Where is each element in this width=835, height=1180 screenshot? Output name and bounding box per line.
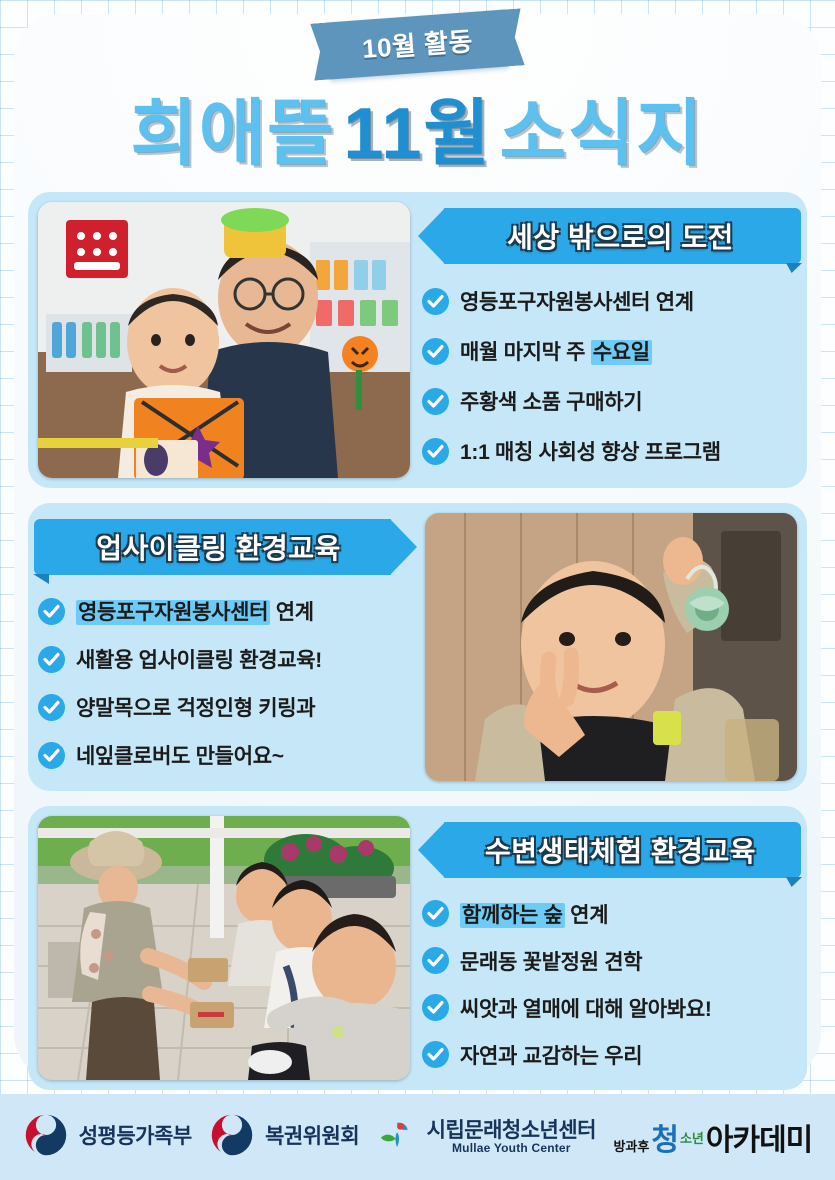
mullae-mark-icon [377,1115,417,1160]
check-circle-icon [38,646,65,673]
section-heading-banner: 수변생태체험 환경교육 [444,822,801,878]
logo-lottery-commission: 복권위원회 [209,1112,359,1163]
section-bullet-list: 함께하는 숲 연계 문래동 꽃밭정원 견학 씨앗과 열매에 대해 알아봐요! 자… [418,890,801,1078]
footer-logo-bar: 성평등가족부 복권위원회 [0,1094,835,1180]
logo-name-ko: 시립문래청소년센터 [427,1120,596,1142]
section-photo [425,513,797,781]
bullet-text-pre: 주황색 소품 구매하기 [460,391,642,414]
section-content: 업사이클링 환경교육 영등포구자원봉사센터 연계 새활용 업사이클링 환경교육!… [34,513,417,783]
section-content: 세상 밖으로의 도전 영등포구자원봉사센터 연계 매월 마지막 주 수요일 주황… [418,202,801,480]
ribbon-label: 10월 활동 [361,26,474,64]
poster-background: 10월 활동 희애뜰11월소식지 [0,0,835,1180]
title-part-3: 소식지 [500,74,705,179]
bullet-text-pre: 자연과 교감하는 우리 [460,1045,642,1068]
academy-prefix: 방과후 [613,1136,649,1155]
list-item: 영등포구자원봉사센터 연계 [38,596,411,626]
logo-name-en: Mullae Youth Center [427,1142,596,1155]
bullet-label: 문래동 꽃밭정원 견학 [460,946,642,976]
check-circle-icon [422,1041,449,1068]
list-item: 영등포구자원봉사센터 연계 [422,286,795,316]
check-circle-icon [422,994,449,1021]
bullet-label: 영등포구자원봉사센터 연계 [460,286,694,316]
list-item: 문래동 꽃밭정원 견학 [422,946,795,976]
bullet-text-pre: 양말목으로 걱정인형 키링과 [76,697,315,720]
bullet-text-pre: 영등포구자원봉사센터 연계 [460,291,694,314]
logo-mullae-youth-center: 시립문래청소년센터 Mullae Youth Center [377,1115,596,1160]
bullet-text-highlight: 수요일 [591,340,652,365]
list-item: 1:1 매칭 사회성 향상 프로그램 [422,436,795,466]
ribbon-container: 10월 활동 [0,16,835,73]
bullet-label: 새활용 업사이클링 환경교육! [76,644,322,674]
section-heading-label: 수변생태체험 환경교육 [485,830,756,870]
bullet-text-pre: 씨앗과 열매에 대해 알아봐요! [460,998,712,1021]
section-inner: 세상 밖으로의 도전 영등포구자원봉사센터 연계 매월 마지막 주 수요일 주황… [28,192,807,488]
title-part-2: 11월 [343,74,491,179]
list-item: 주황색 소품 구매하기 [422,386,795,416]
check-circle-icon [422,338,449,365]
section-bullet-list: 영등포구자원봉사센터 연계 매월 마지막 주 수요일 주황색 소품 구매하기 1… [418,276,801,476]
page-title: 희애뜰11월소식지 [0,74,835,179]
bullet-label: 자연과 교감하는 우리 [460,1040,642,1070]
section-heading-banner: 세상 밖으로의 도전 [444,208,801,264]
check-circle-icon [38,694,65,721]
check-circle-icon [38,598,65,625]
section-inner: 수변생태체험 환경교육 함께하는 숲 연계 문래동 꽃밭정원 견학 씨앗과 열매… [28,806,807,1090]
taegeuk-icon [23,1112,69,1163]
list-item: 네잎클로버도 만들어요~ [38,740,411,770]
check-circle-icon [422,900,449,927]
logo-afterschool-youth-academy: 방과후 청 소년 아카데미 [613,1115,812,1159]
logo-text-block: 성평등가족부 [79,1126,192,1148]
logo-name-ko: 복권위원회 [265,1126,359,1148]
section-photo [38,816,410,1080]
section-photo [38,202,410,478]
bullet-text-pre: 새활용 업사이클링 환경교육! [76,649,322,672]
bullet-text-pre: 매월 마지막 주 [460,341,591,364]
bullet-text-pre: 네잎클로버도 만들어요~ [76,745,284,768]
list-item: 자연과 교감하는 우리 [422,1040,795,1070]
bullet-text-highlight: 함께하는 숲 [460,903,565,928]
bullet-text-pre: 1:1 매칭 사회성 향상 프로그램 [460,441,721,464]
check-circle-icon [422,438,449,465]
academy-small-label: 소년 [680,1128,704,1147]
bullet-text-highlight: 영등포구자원봉사센터 [76,600,270,625]
section-3: 수변생태체험 환경교육 함께하는 숲 연계 문래동 꽃밭정원 견학 씨앗과 열매… [28,806,807,1090]
logo-name-ko: 성평등가족부 [79,1126,192,1148]
check-circle-icon [422,388,449,415]
academy-cheong: 청 [651,1115,678,1159]
bullet-text-post: 연계 [270,601,314,624]
list-item: 새활용 업사이클링 환경교육! [38,644,411,674]
section-heading-label: 세상 밖으로의 도전 [507,216,734,256]
logo-ministry-gender-equality: 성평등가족부 [23,1112,192,1163]
bullet-label: 매월 마지막 주 수요일 [460,336,652,366]
list-item: 양말목으로 걱정인형 키링과 [38,692,411,722]
logo-text-block: 시립문래청소년센터 Mullae Youth Center [427,1120,596,1155]
bullet-label: 함께하는 숲 연계 [460,899,608,929]
academy-rest: 아카데미 [706,1115,812,1159]
section-content: 수변생태체험 환경교육 함께하는 숲 연계 문래동 꽃밭정원 견학 씨앗과 열매… [418,816,801,1082]
bullet-label: 씨앗과 열매에 대해 알아봐요! [460,993,712,1023]
month-ribbon-badge: 10월 활동 [326,10,509,80]
taegeuk-icon [209,1112,255,1163]
bullet-text-post: 연계 [565,904,609,927]
list-item: 씨앗과 열매에 대해 알아봐요! [422,993,795,1023]
section-1: 세상 밖으로의 도전 영등포구자원봉사센터 연계 매월 마지막 주 수요일 주황… [28,192,807,488]
list-item: 매월 마지막 주 수요일 [422,336,795,366]
section-heading-banner: 업사이클링 환경교육 [34,519,391,575]
bullet-label: 네잎클로버도 만들어요~ [76,740,284,770]
bullet-label: 1:1 매칭 사회성 향상 프로그램 [460,436,721,466]
bullet-label: 양말목으로 걱정인형 키링과 [76,692,315,722]
check-circle-icon [422,947,449,974]
section-heading-label: 업사이클링 환경교육 [96,527,341,567]
bullet-text-pre: 문래동 꽃밭정원 견학 [460,951,642,974]
bullet-label: 주황색 소품 구매하기 [460,386,642,416]
logo-text-block: 복권위원회 [265,1126,359,1148]
section-2: 업사이클링 환경교육 영등포구자원봉사센터 연계 새활용 업사이클링 환경교육!… [28,503,807,791]
check-circle-icon [38,742,65,769]
check-circle-icon [422,288,449,315]
section-bullet-list: 영등포구자원봉사센터 연계 새활용 업사이클링 환경교육! 양말목으로 걱정인형… [34,587,417,779]
section-inner: 업사이클링 환경교육 영등포구자원봉사센터 연계 새활용 업사이클링 환경교육!… [28,503,807,791]
list-item: 함께하는 숲 연계 [422,899,795,929]
title-part-1: 희애뜰 [131,74,336,179]
bullet-label: 영등포구자원봉사센터 연계 [76,596,314,626]
